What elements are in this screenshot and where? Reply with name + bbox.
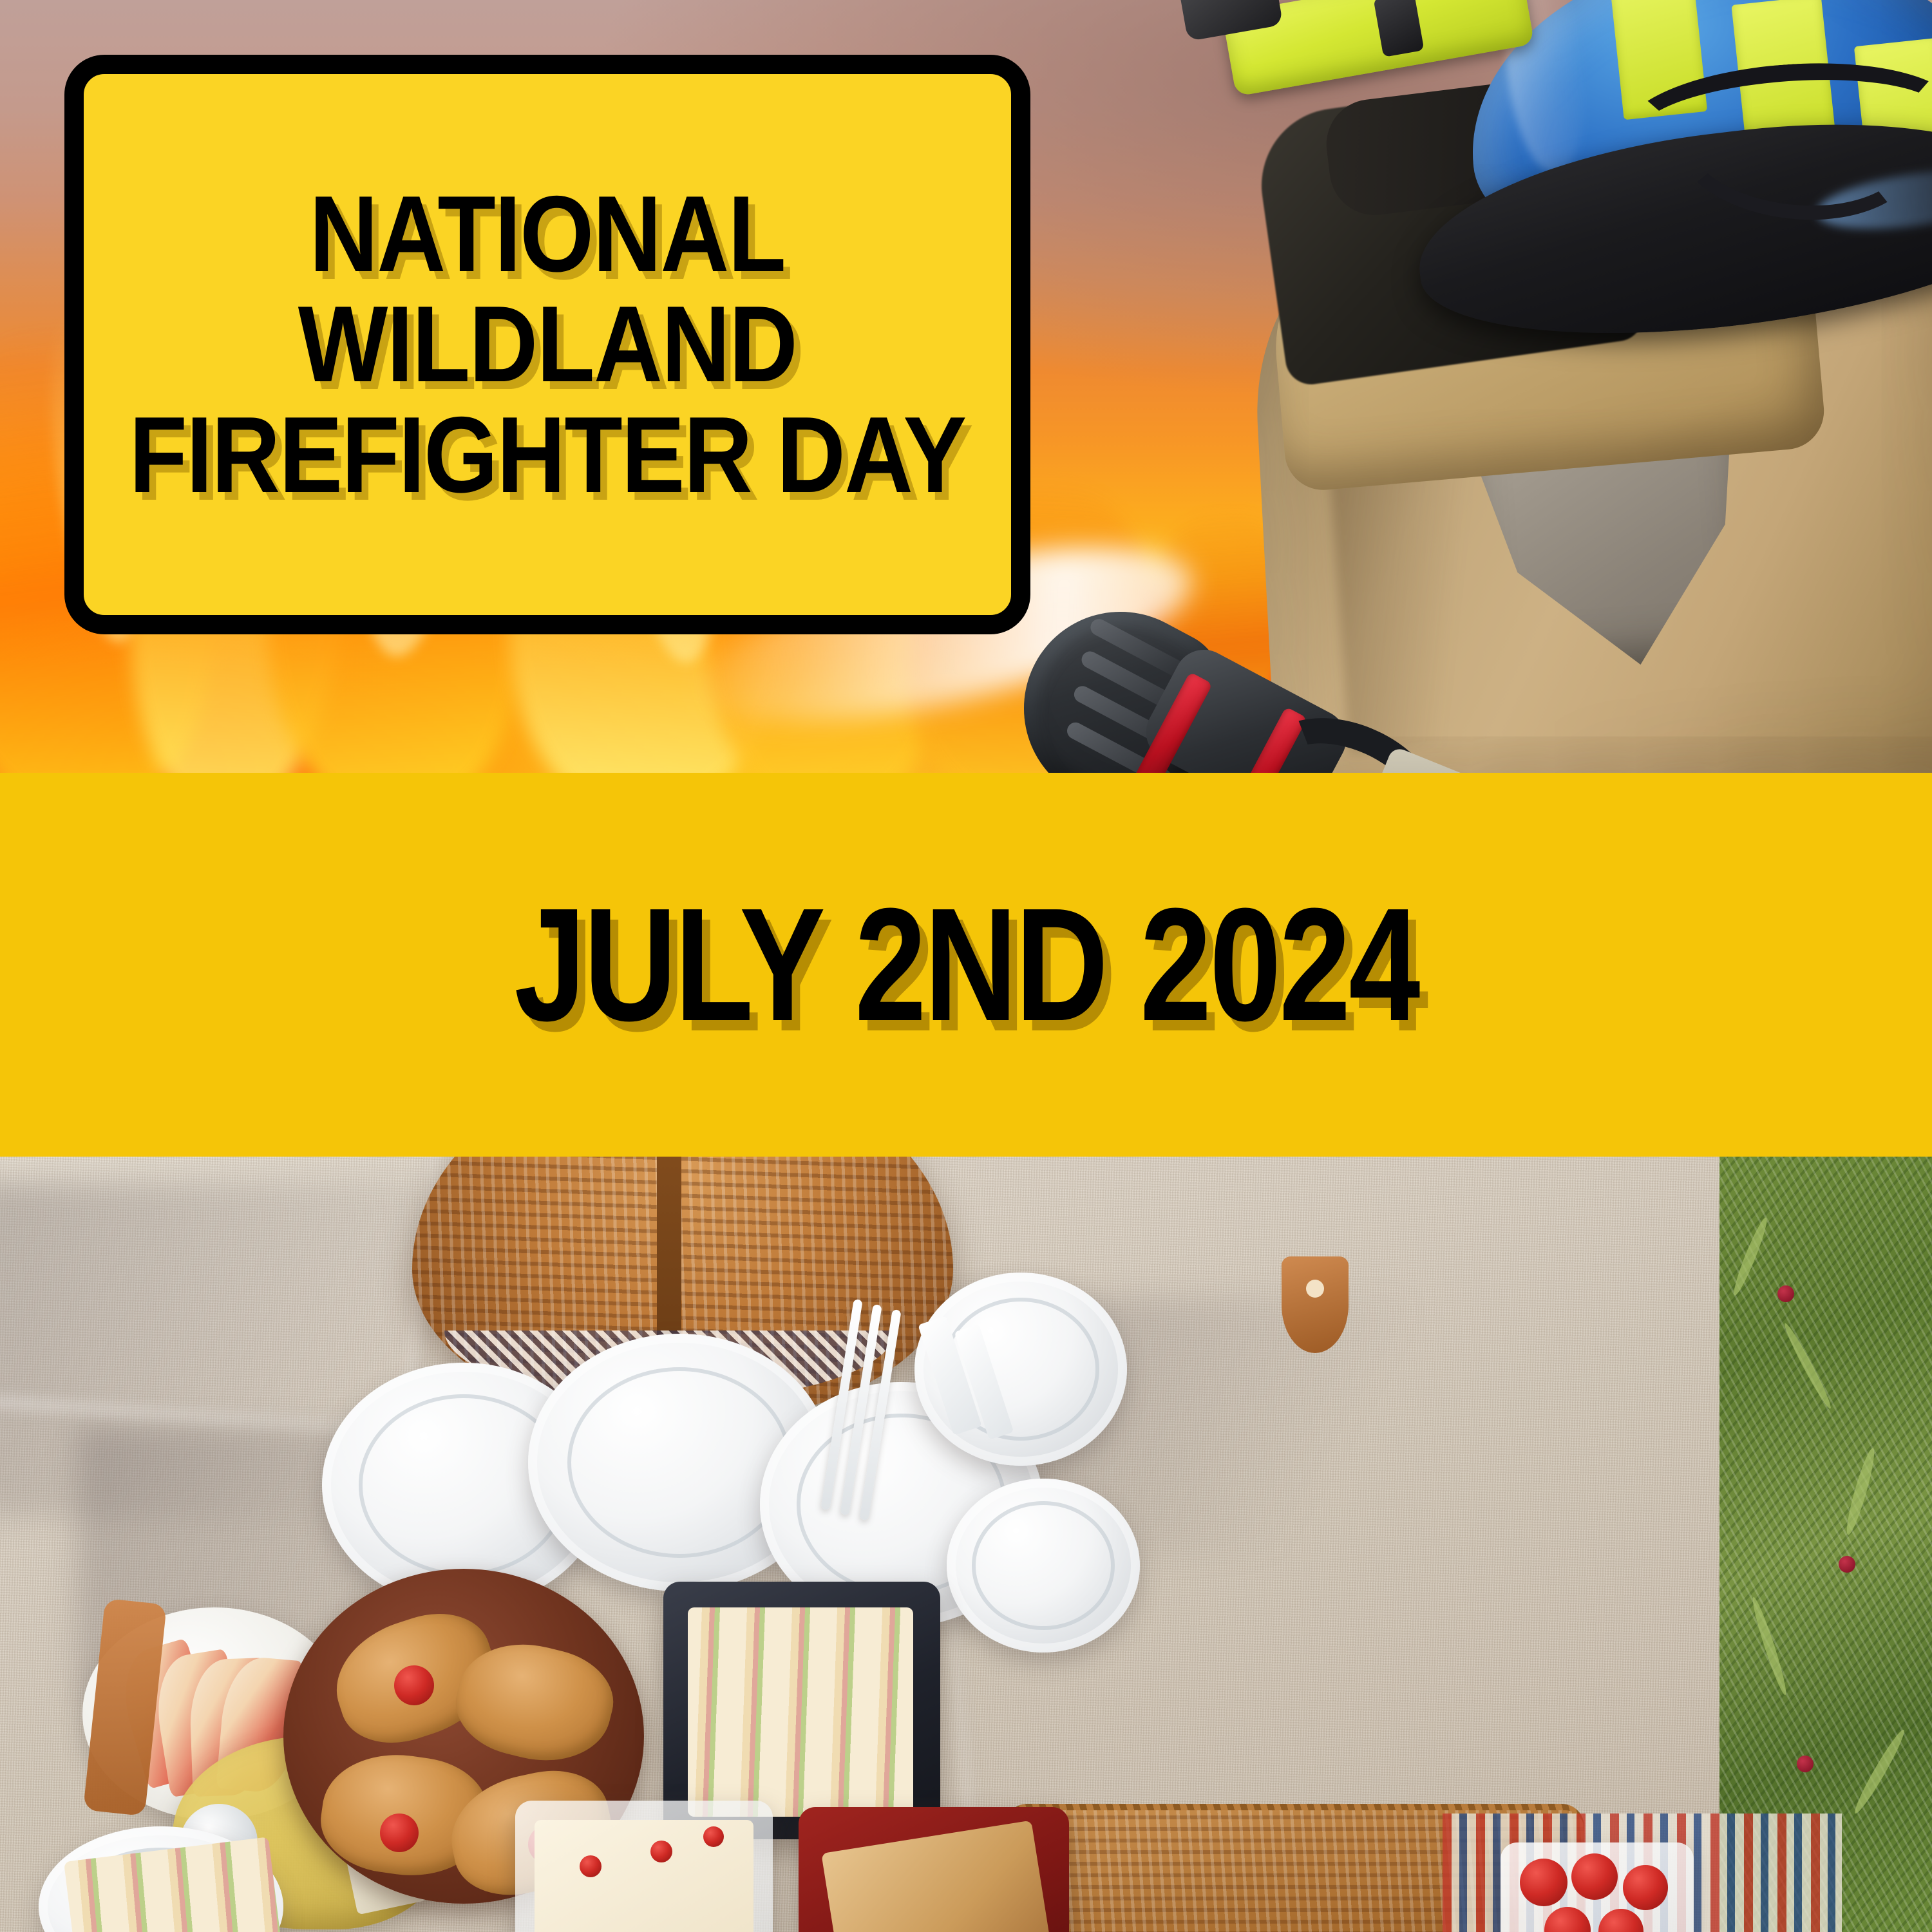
cherry-tomato (394, 1665, 434, 1705)
club-sandwich-stack (688, 1607, 913, 1817)
sign-line-3: FIREFIGHTER DAY (129, 400, 966, 510)
sign-line-2: WILDLAND (298, 289, 797, 399)
poster-canvas: NATIONAL WILDLAND FIREFIGHTER DAY JULY 2… (0, 0, 1932, 1932)
picnic-photo: NATIONAL PICNIC MONTH (0, 1157, 1932, 1932)
grass-blade (1749, 1596, 1790, 1697)
leather-strap-tab (1282, 1256, 1349, 1353)
berry (1839, 1556, 1855, 1573)
cherry-tomato (1520, 1859, 1567, 1906)
sandwich-tomato-dot (650, 1841, 672, 1862)
sign-line-1: NATIONAL (310, 179, 786, 289)
cherry-tomato (1623, 1865, 1668, 1910)
cherry-tomato (1571, 1853, 1618, 1900)
wildfire-firefighter-photo: NATIONAL WILDLAND FIREFIGHTER DAY (0, 0, 1932, 773)
white-plate (947, 1479, 1140, 1653)
grass-blade (1730, 1216, 1771, 1298)
hose-nozzle (1024, 580, 1488, 773)
cherry-tomato (380, 1814, 419, 1852)
grass-blade (1851, 1727, 1909, 1816)
date-banner: JULY 2ND 2024 (0, 773, 1932, 1157)
sandwich-tomato-dot (580, 1855, 601, 1877)
grass-blade (1781, 1321, 1835, 1410)
sandwich-tomato-dot (703, 1826, 724, 1847)
grass-blade (1842, 1446, 1879, 1537)
berry (1797, 1756, 1814, 1772)
national-wildland-firefighter-day-sign[interactable]: NATIONAL WILDLAND FIREFIGHTER DAY (64, 55, 1030, 634)
date-text: JULY 2ND 2024 (514, 884, 1418, 1045)
berry (1777, 1285, 1794, 1302)
